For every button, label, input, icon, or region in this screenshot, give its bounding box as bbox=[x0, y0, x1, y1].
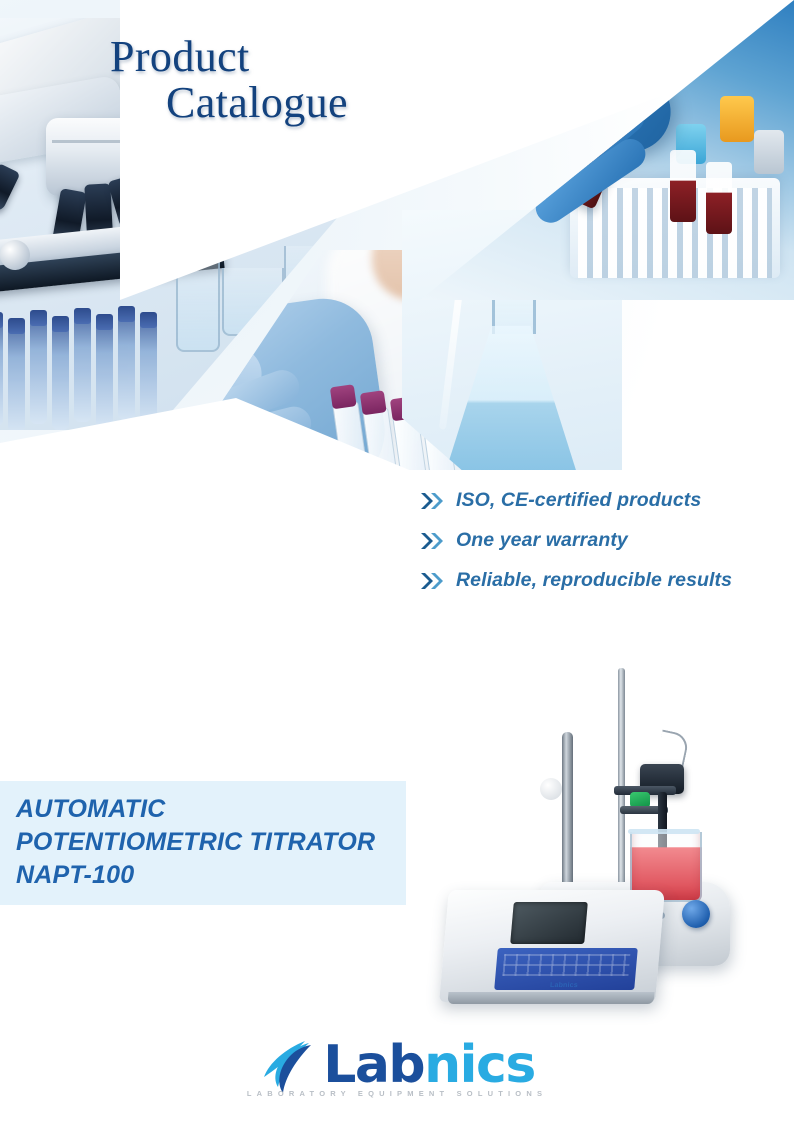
blood-vial bbox=[706, 162, 732, 234]
feature-label: One year warranty bbox=[456, 529, 628, 552]
product-title: AUTOMATIC POTENTIOMETRIC TITRATOR NAPT-1… bbox=[16, 793, 396, 892]
double-chevron-icon bbox=[420, 571, 446, 591]
product-photo: Labnics bbox=[444, 660, 744, 1010]
product-title-panel: AUTOMATIC POTENTIOMETRIC TITRATOR NAPT-1… bbox=[0, 781, 406, 905]
microscope-objective bbox=[0, 163, 20, 213]
headline-line-1: Product bbox=[110, 34, 510, 80]
yellow-cap-vial bbox=[720, 96, 754, 142]
brand-name-light: nics bbox=[424, 1035, 535, 1095]
double-chevron-icon bbox=[420, 491, 446, 511]
lcd-display bbox=[510, 902, 588, 944]
list-item: One year warranty bbox=[420, 529, 732, 552]
feature-label: Reliable, reproducible results bbox=[456, 569, 732, 592]
grey-cap-vial bbox=[754, 130, 784, 174]
blue-cap-tube-rack bbox=[0, 304, 194, 430]
catalogue-page: Product Catalogue ISO, CE-certified prod… bbox=[0, 0, 794, 1123]
list-item: ISO, CE-certified products bbox=[420, 489, 732, 512]
instrument-brand-mark: Labnics bbox=[550, 982, 578, 989]
page-title: Product Catalogue bbox=[110, 34, 510, 126]
list-item: Reliable, reproducible results bbox=[420, 569, 732, 592]
hero-collage: Product Catalogue ISO, CE-certified prod… bbox=[0, 0, 794, 640]
feature-label: ISO, CE-certified products bbox=[456, 489, 701, 512]
console-base bbox=[447, 992, 654, 1004]
headline-line-2: Catalogue bbox=[110, 80, 510, 126]
blood-vial bbox=[670, 150, 696, 222]
burette-rod bbox=[562, 732, 573, 892]
stirrer-knob[interactable] bbox=[682, 900, 710, 928]
brand-tagline: LABORATORY EQUIPMENT SOLUTIONS bbox=[0, 1089, 794, 1098]
stand-collar bbox=[540, 778, 562, 800]
brand-name-dark: Lab bbox=[323, 1035, 424, 1095]
feature-list: ISO, CE-certified products One year warr… bbox=[420, 489, 732, 609]
stand-rod bbox=[618, 668, 625, 886]
double-chevron-icon bbox=[420, 531, 446, 551]
